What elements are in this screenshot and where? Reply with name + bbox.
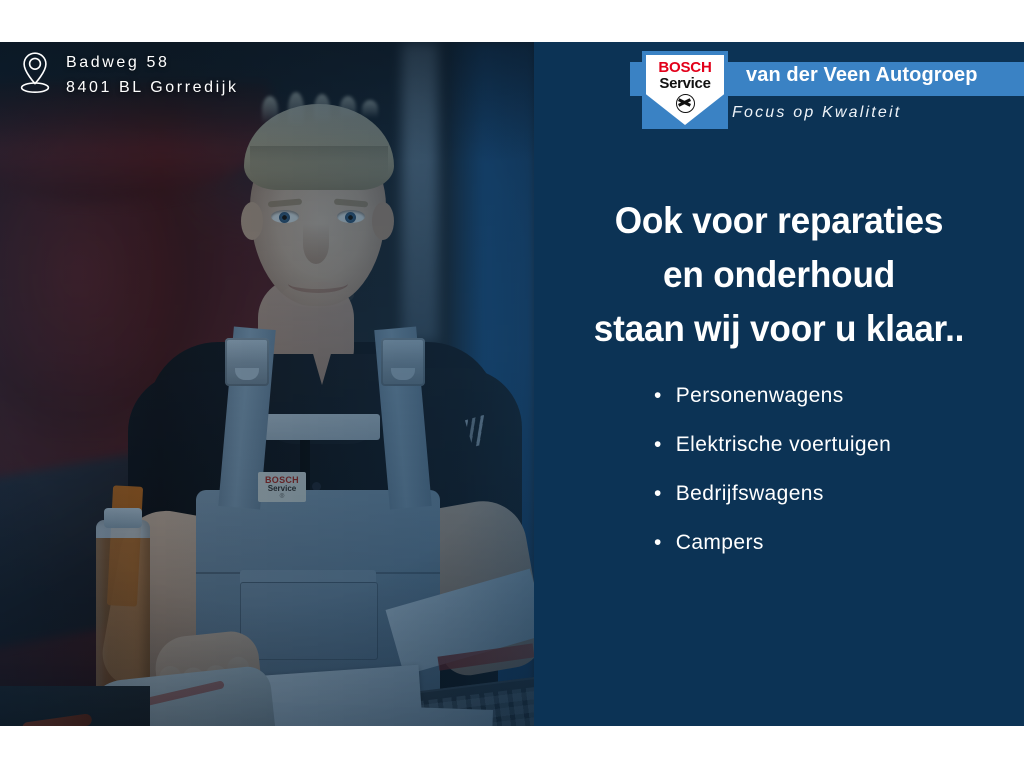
- service-label: Bedrijfswagens: [676, 482, 824, 506]
- bullet-icon: •: [654, 483, 662, 504]
- content-panel: BOSCH Service van der Veen Autogroep Foc…: [534, 42, 1024, 726]
- headline-line-2: en onderhoud: [546, 248, 1012, 302]
- photo-scene: BOSCH Service ◎: [0, 42, 534, 726]
- bosch-service-wordmark: Service: [659, 76, 710, 92]
- bosch-service-logo[interactable]: BOSCH Service: [642, 51, 728, 129]
- service-label: Elektrische voertuigen: [676, 433, 891, 457]
- address-text: Badweg 58 8401 BL Gorredijk: [66, 51, 239, 101]
- list-item: • Bedrijfswagens: [654, 482, 891, 531]
- address-block: Badweg 58 8401 BL Gorredijk: [18, 50, 239, 101]
- promo-banner: BOSCH Service ◎: [0, 42, 1024, 726]
- photo-vignette: [0, 42, 534, 726]
- headline-line-3: staan wij voor u klaar..: [546, 302, 1012, 356]
- bosch-shield-shape: BOSCH Service: [646, 55, 724, 125]
- company-name: van der Veen Autogroep: [746, 64, 978, 87]
- bosch-armature-icon: [676, 94, 695, 113]
- service-label: Campers: [676, 531, 764, 555]
- services-list: • Personenwagens • Elektrische voertuige…: [654, 384, 891, 580]
- mechanic-photo: BOSCH Service ◎: [0, 42, 534, 726]
- bosch-wordmark: BOSCH: [658, 60, 711, 75]
- company-tagline: Focus op Kwaliteit: [732, 104, 901, 122]
- address-line-1: Badweg 58: [66, 51, 239, 76]
- bullet-icon: •: [654, 434, 662, 455]
- service-label: Personenwagens: [676, 384, 844, 408]
- page-title: Ook voor reparaties en onderhoud staan w…: [546, 194, 1012, 356]
- bullet-icon: •: [654, 532, 662, 553]
- list-item: • Campers: [654, 531, 891, 580]
- list-item: • Personenwagens: [654, 384, 891, 433]
- bullet-icon: •: [654, 385, 662, 406]
- headline-line-1: Ook voor reparaties: [546, 194, 1012, 248]
- location-pin-icon: [18, 50, 52, 101]
- list-item: • Elektrische voertuigen: [654, 433, 891, 482]
- address-line-2: 8401 BL Gorredijk: [66, 76, 239, 101]
